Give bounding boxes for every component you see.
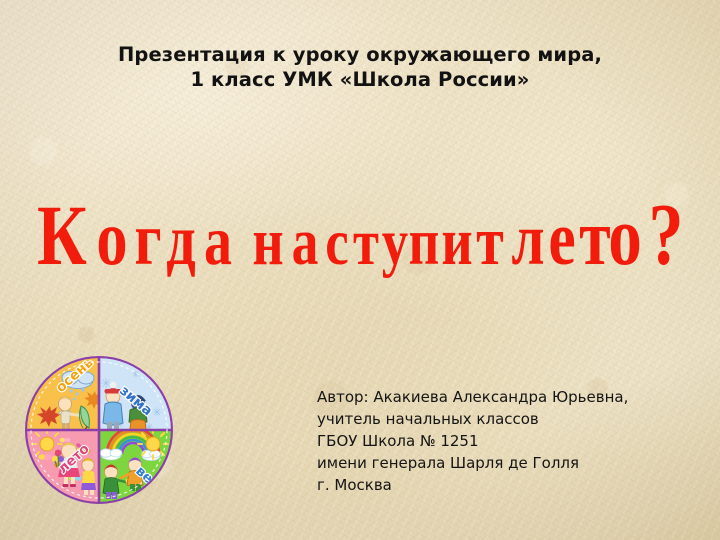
wheel-quadrant-autumn: осень	[27, 356, 104, 433]
wordart-letter: г	[134, 197, 161, 281]
seasons-wheel-svg: осень	[25, 356, 173, 504]
wordart-letter: т	[476, 202, 504, 279]
seasons-wheel-illustration: осень	[25, 356, 173, 504]
spring-sun-icon	[138, 429, 168, 459]
child-in-yellow-figure	[81, 458, 96, 495]
author-block: Автор: Акакиева Александра Юрьевна, учит…	[317, 386, 707, 496]
wordart-letter: т	[353, 205, 379, 278]
author-line: ГБОУ Школа № 1251	[317, 430, 707, 452]
wordart-letter: К	[37, 188, 87, 283]
wordart-heading-svg: Когданаступитлето?	[0, 152, 720, 292]
wordart-letter: у	[382, 205, 409, 278]
author-line: учитель начальных классов	[317, 408, 707, 430]
author-line: имени генерала Шарля де Голля	[317, 452, 707, 474]
wordart-letter: а	[204, 202, 232, 279]
wordart-letter: а	[292, 205, 319, 279]
wheel-quadrant-winter: зима	[99, 358, 171, 439]
wordart-letter: и	[441, 204, 472, 279]
wheel-quadrant-summer: лето	[27, 429, 99, 502]
wordart-letter: ?	[648, 187, 683, 284]
slide-title-wordart: Когданаступитлето?	[0, 152, 720, 292]
wordart-letter: п	[409, 205, 440, 279]
wordart-letter-group: Когданаступитлето?	[37, 187, 684, 284]
wordart-letter: л	[511, 199, 544, 281]
wordart-letter: о	[96, 196, 127, 282]
presentation-slide: Презентация к уроку окружающего мира, 1 …	[0, 0, 720, 540]
wordart-letter: д	[166, 200, 196, 281]
wordart-letter: с	[325, 205, 348, 278]
wordart-letter: е	[548, 197, 575, 282]
author-line: Автор: Акакиева Александра Юрьевна,	[317, 386, 707, 408]
wordart-letter: н	[252, 204, 283, 279]
wordart-letter: т	[579, 192, 610, 281]
author-line: г. Москва	[317, 474, 707, 496]
wordart-letter: о	[608, 190, 642, 283]
slide-subtitle: Презентация к уроку окружающего мира, 1 …	[0, 42, 720, 92]
